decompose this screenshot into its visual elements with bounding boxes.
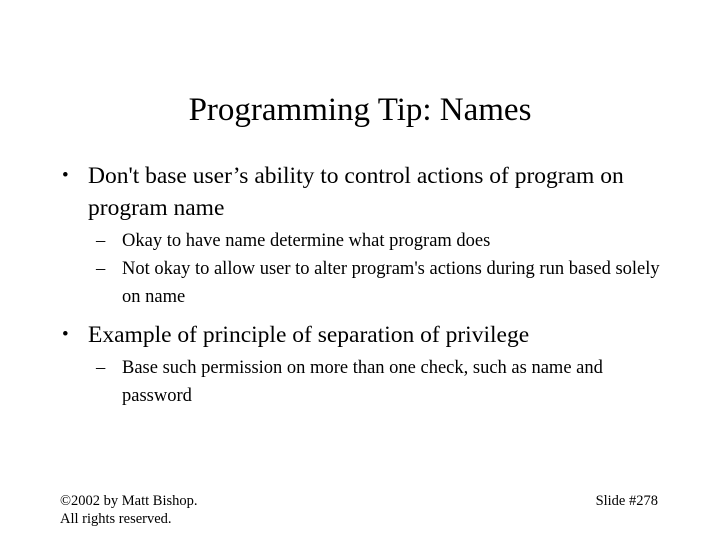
bullet-level1: • Don't base user’s ability to control a… (60, 160, 670, 224)
bullet-dash-icon: – (96, 227, 105, 255)
bullet-level2-text: Okay to have name determine what program… (122, 227, 670, 255)
footer-copyright: ©2002 by Matt Bishop. All rights reserve… (60, 492, 198, 528)
sub-bullet-group: – Base such permission on more than one … (60, 354, 670, 410)
bullet-level1-text: Don't base user’s ability to control act… (88, 160, 670, 224)
bullet-dot-icon: • (62, 319, 69, 351)
slide-canvas: Programming Tip: Names • Don't base user… (0, 0, 720, 540)
bullet-dash-icon: – (96, 255, 105, 283)
bullet-level1-text: Example of principle of separation of pr… (88, 319, 670, 351)
bullet-level2: – Not okay to allow user to alter progra… (60, 255, 670, 311)
bullet-level2-text: Not okay to allow user to alter program'… (122, 255, 670, 311)
bullet-dot-icon: • (62, 160, 69, 192)
footer-copyright-line2: All rights reserved. (60, 510, 198, 528)
bullet-level2: – Base such permission on more than one … (60, 354, 670, 410)
footer-copyright-line1: ©2002 by Matt Bishop. (60, 492, 198, 510)
sub-bullet-group: – Okay to have name determine what progr… (60, 227, 670, 311)
bullet-level2: – Okay to have name determine what progr… (60, 227, 670, 255)
page-title: Programming Tip: Names (0, 90, 720, 130)
bullet-dash-icon: – (96, 354, 105, 382)
slide-body: • Don't base user’s ability to control a… (60, 160, 670, 416)
bullet-level2-text: Base such permission on more than one ch… (122, 354, 670, 410)
bullet-level1: • Example of principle of separation of … (60, 319, 670, 351)
footer-slide-number: Slide #278 (596, 492, 658, 510)
